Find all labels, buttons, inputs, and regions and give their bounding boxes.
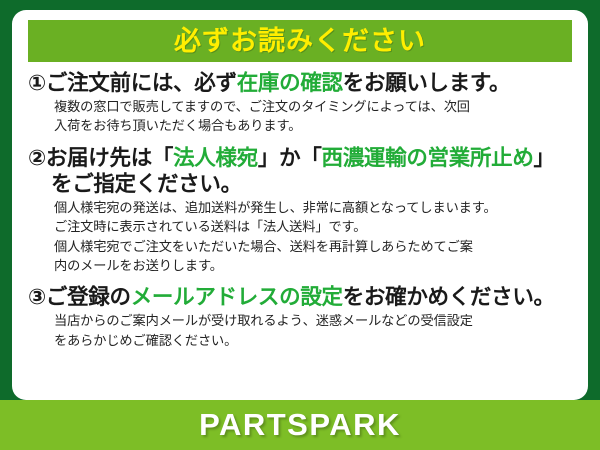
notice-item-2-body: 個人様宅宛の発送は、追加送料が発生し、非常に高額となってしまいます。 ご注文時に… (28, 198, 572, 275)
notice-item-3-heading-highlight: メールアドレスの設定 (131, 285, 343, 309)
header-banner: 必ずお読みください (28, 20, 572, 62)
notice-item-1-body-line-1: 複数の窓口で販売してますので、ご注文のタイミングによっては、次回 (54, 97, 572, 116)
notice-item-1-body-line-2: 入荷をお待ち頂いただく場合もあります。 (54, 116, 572, 135)
notice-item-2-body-line-4: 内のメールをお送りします。 (54, 256, 572, 275)
notice-item-1-heading-highlight: 在庫の確認 (237, 71, 343, 95)
notice-item-2-heading-mid: 」か「 (258, 146, 322, 170)
notice-item-1-heading: ①ご注文前には、必ず在庫の確認をお願いします。 (28, 70, 572, 96)
notice-item-2-heading: ②お届け先は「法人様宛」か「西濃運輸の営業所止め」 (28, 145, 572, 171)
panel-frame: 必ずお読みください ①ご注文前には、必ず在庫の確認をお願いします。 複数の窓口で… (0, 0, 600, 400)
notice-item-2-body-line-2: ご注文時に表示されている送料は「法人送料」です。 (54, 217, 572, 236)
notice-item-2-heading-pre: お届け先は「 (46, 146, 173, 170)
notice-item-2-heading-line-2: をご指定ください。 (28, 171, 572, 197)
footer-bar: PARTSPARK (0, 400, 600, 450)
notice-item-1-heading-pre: ご注文前には、必ず (46, 71, 237, 95)
circled-number-2-icon: ② (28, 146, 46, 170)
notice-items-list: ①ご注文前には、必ず在庫の確認をお願いします。 複数の窓口で販売してますので、ご… (24, 70, 576, 350)
notice-item-2-body-line-3: 個人様宅宛でご注文をいただいた場合、送料を再計算しあらためてご案 (54, 237, 572, 256)
notice-item-2-body-line-1: 個人様宅宛の発送は、追加送料が発生し、非常に高額となってしまいます。 (54, 198, 572, 217)
notice-item-2-heading-highlight: 法人様宛 (173, 146, 258, 170)
notice-item-3-body: 当店からのご案内メールが受け取れるよう、迷惑メールなどの受信設定 をあらかじめご… (28, 311, 572, 350)
notice-item-3-heading-pre: ご登録の (46, 285, 131, 309)
notice-item-3-heading: ③ご登録のメールアドレスの設定をお確かめください。 (28, 284, 572, 310)
notice-card: 必ずお読みください ①ご注文前には、必ず在庫の確認をお願いします。 複数の窓口で… (0, 0, 600, 450)
notice-item-1-heading-post: をお願いします。 (343, 71, 510, 95)
notice-item-3-body-line-1: 当店からのご案内メールが受け取れるよう、迷惑メールなどの受信設定 (54, 311, 572, 330)
notice-item-2-heading-highlight-2: 西濃運輸の営業所止め (322, 146, 534, 170)
notice-item-3-body-line-2: をあらかじめご確認ください。 (54, 331, 572, 350)
notice-item-2: ②お届け先は「法人様宛」か「西濃運輸の営業所止め」 をご指定ください。 個人様宅… (28, 145, 572, 276)
notice-item-2-heading-post: 」 (534, 146, 555, 170)
notice-item-1-body: 複数の窓口で販売してますので、ご注文のタイミングによっては、次回 入荷をお待ち頂… (28, 97, 572, 136)
notice-item-1: ①ご注文前には、必ず在庫の確認をお願いします。 複数の窓口で販売してますので、ご… (28, 70, 572, 136)
circled-number-1-icon: ① (28, 71, 46, 95)
notice-panel: 必ずお読みください ①ご注文前には、必ず在庫の確認をお願いします。 複数の窓口で… (12, 10, 588, 400)
circled-number-3-icon: ③ (28, 285, 46, 309)
notice-item-3-heading-post: をお確かめください。 (343, 285, 555, 309)
notice-item-3: ③ご登録のメールアドレスの設定をお確かめください。 当店からのご案内メールが受け… (28, 284, 572, 350)
banner-title: 必ずお読みください (174, 28, 426, 55)
brand-logo-text: PARTSPARK (199, 407, 401, 443)
